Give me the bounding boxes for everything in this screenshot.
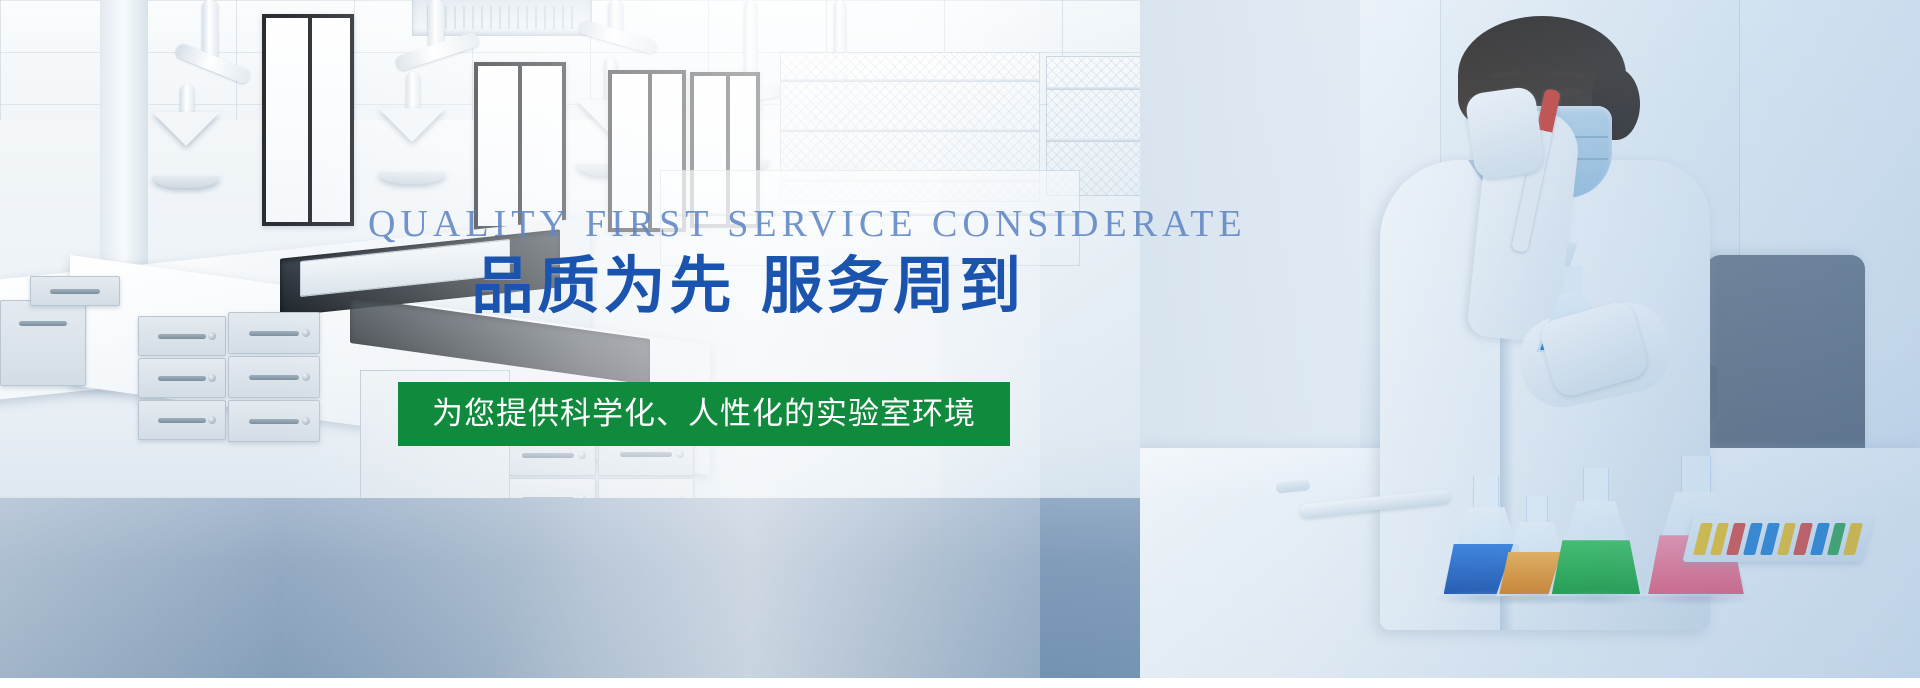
banner-headline: 品质为先 服务周到 — [400, 250, 1025, 321]
banner-subtitle: 为您提供科学化、人性化的实验室环境 — [432, 399, 976, 430]
bottom-white-strip — [0, 678, 1920, 688]
laboratory-hero-banner: QUALITY FIRST SERVICE CONSIDERATE 品质为先 服… — [0, 0, 1920, 688]
subtitle-green-bar: 为您提供科学化、人性化的实验室环境 — [398, 382, 1010, 446]
banner-text-overlay: QUALITY FIRST SERVICE CONSIDERATE 品质为先 服… — [0, 0, 1920, 688]
english-tagline: QUALITY FIRST SERVICE CONSIDERATE — [368, 205, 1028, 243]
